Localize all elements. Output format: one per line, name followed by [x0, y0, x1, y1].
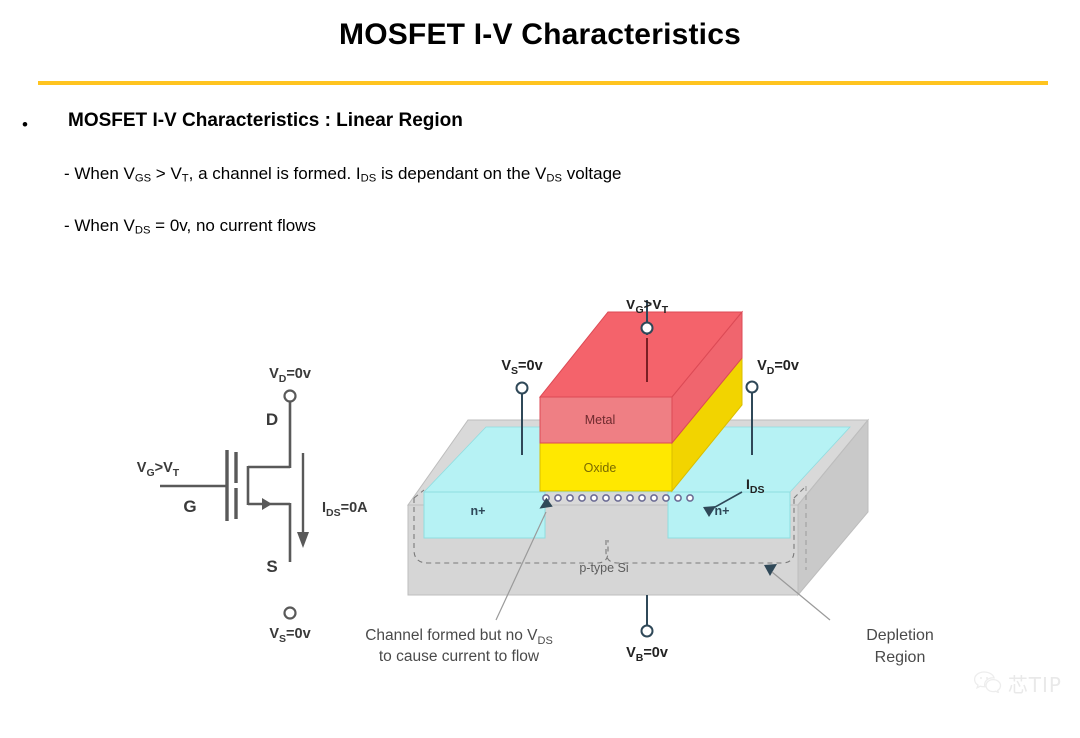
- source-terminal-node-3d: [517, 383, 528, 394]
- gate-label: G: [183, 497, 196, 516]
- bullet-marker: •: [22, 116, 28, 133]
- sch-ids-tail: =0A: [341, 500, 369, 516]
- sch-vg-main: V: [137, 460, 147, 476]
- st-vg-sub2: T: [662, 304, 669, 316]
- sch-vg-sub: G: [146, 467, 154, 479]
- gate-terminal-node: [642, 323, 653, 334]
- depletion-caption-line2: Region: [875, 649, 926, 666]
- st-vs-sub: S: [511, 365, 518, 377]
- drain-label: D: [266, 410, 278, 429]
- drain-terminal-node-3d: [747, 382, 758, 393]
- figure-area: VD=0v D: [0, 300, 1080, 700]
- channel-caption-line1: Channel formed but no VDS: [365, 627, 553, 647]
- st-vg-main: V: [626, 300, 636, 313]
- nmos-schematic: VD=0v D: [137, 366, 368, 645]
- source-terminal-node: [285, 608, 296, 619]
- page-title: MOSFET I-V Characteristics: [0, 18, 1080, 52]
- slide-root: MOSFET I-V Characteristics • MOSFET I-V …: [0, 0, 1080, 738]
- svg-text:VS=0v: VS=0v: [501, 358, 542, 377]
- sch-vs-tail: =0v: [286, 626, 311, 642]
- svg-text:VG>VT: VG>VT: [137, 460, 180, 479]
- sub1-t1: GS: [135, 172, 151, 184]
- svg-text:VS=0v: VS=0v: [269, 626, 310, 645]
- st-ids-sub: DS: [750, 484, 765, 496]
- st-vd-main: V: [757, 358, 767, 374]
- sch-vg-tail: >V: [155, 460, 173, 476]
- source-label: S: [266, 557, 277, 576]
- st-vg-tail: >V: [644, 300, 662, 313]
- sub-bullet-2: - When VDS = 0v, no current flows: [64, 216, 316, 236]
- sub1-t8: voltage: [562, 164, 622, 183]
- source-arrow: [262, 498, 272, 510]
- sub1-t4: , a channel is formed. I: [189, 164, 361, 183]
- sub2-t0: - When V: [64, 216, 135, 235]
- sch-vd-main: V: [269, 366, 279, 382]
- sub1-t6: is dependant on the V: [376, 164, 546, 183]
- sch-vg-sub2: T: [173, 467, 180, 479]
- nplus-left-label: n+: [471, 504, 486, 518]
- st-vd-tail: =0v: [774, 358, 799, 374]
- sub1-t2: > V: [151, 164, 182, 183]
- st-vb-main: V: [626, 645, 636, 661]
- sch-ids-sub: DS: [326, 507, 341, 519]
- sub2-t2: = 0v, no current flows: [150, 216, 316, 235]
- drain-terminal-node: [285, 391, 296, 402]
- watermark: 芯TIP: [973, 669, 1062, 698]
- sch-vd-tail: =0v: [286, 366, 311, 382]
- svg-text:IDS=0A: IDS=0A: [322, 500, 368, 519]
- channel-caption-line2: to cause current to flow: [379, 648, 540, 665]
- st-vs-tail: =0v: [518, 358, 543, 374]
- title-divider: [38, 81, 1048, 85]
- depletion-caption-line1: Depletion: [866, 627, 934, 644]
- st-vs-main: V: [501, 358, 511, 374]
- bullet-heading: MOSFET I-V Characteristics : Linear Regi…: [68, 110, 463, 132]
- st-vb-tail: =0v: [643, 645, 668, 661]
- svg-text:VB=0v: VB=0v: [626, 645, 668, 664]
- st-vg-sub: G: [635, 304, 643, 316]
- body-terminal-node: [642, 626, 653, 637]
- wechat-icon: [973, 669, 1003, 698]
- watermark-text: 芯TIP: [1008, 669, 1062, 698]
- oxide-label: Oxide: [584, 461, 617, 475]
- substrate-label: p-type Si: [579, 561, 628, 575]
- svg-text:VD=0v: VD=0v: [757, 358, 799, 377]
- sub1-t5: DS: [361, 172, 377, 184]
- sub1-t7: DS: [546, 172, 562, 184]
- sub1-t0: - When V: [64, 164, 135, 183]
- sub-bullet-1: - When VGS > VT, a channel is formed. ID…: [64, 164, 622, 184]
- sub2-t1: DS: [135, 224, 151, 236]
- sch-vs-main: V: [269, 626, 279, 642]
- sub1-t3: T: [182, 172, 189, 184]
- mosfet-3d-structure: n+ n+: [408, 300, 868, 664]
- current-arrow: [297, 532, 309, 548]
- svg-text:VD=0v: VD=0v: [269, 366, 311, 385]
- sch-vs-sub: S: [279, 633, 286, 645]
- metal-label: Metal: [585, 413, 616, 427]
